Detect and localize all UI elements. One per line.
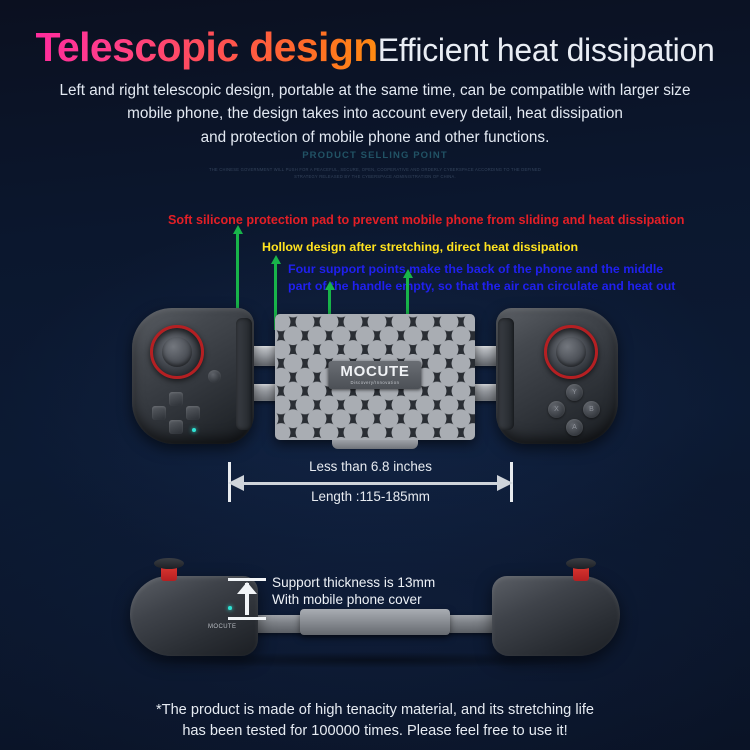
arrow-right-icon — [497, 475, 513, 491]
left-function-button[interactable] — [208, 370, 221, 383]
watermark-paragraph: THE CHINESE GOVERNMENT WILL PUSH FOR A P… — [0, 166, 750, 180]
button-b[interactable]: B — [583, 401, 600, 418]
callout-support-points-line-2: part of the handle empty, so that the ai… — [288, 278, 675, 295]
right-analog-stick[interactable] — [544, 325, 598, 379]
thickness-line-1: Support thickness is 13mm — [272, 574, 435, 591]
left-grip — [132, 308, 254, 444]
dpad-up-icon[interactable] — [169, 392, 183, 406]
bottom-brand-mark: MOCUTE — [208, 624, 236, 630]
callout-hollow-design: Hollow design after stretching, direct h… — [262, 240, 578, 254]
product-bottom-view: MOCUTE — [130, 552, 620, 672]
status-led-indicator — [192, 428, 196, 432]
face-button-cluster[interactable]: Y X B A — [548, 384, 600, 436]
stick-cap-right — [566, 558, 596, 569]
width-label-mm: Length :115-185mm — [311, 489, 430, 504]
button-a[interactable]: A — [566, 419, 583, 436]
intro-line-1: Left and right telescopic design, portab… — [0, 79, 750, 102]
left-analog-stick[interactable] — [150, 325, 204, 379]
brand-name: MOCUTE — [340, 364, 409, 379]
arrow-left-icon — [228, 475, 244, 491]
intro-line-2: mobile phone, the design takes into acco… — [0, 102, 750, 125]
intro-paragraph: Left and right telescopic design, portab… — [0, 79, 750, 149]
dpad-left-icon[interactable] — [152, 406, 166, 420]
bottom-left-analog-stick[interactable] — [154, 558, 184, 584]
button-y[interactable]: Y — [566, 384, 583, 401]
width-label-inches: Less than 6.8 inches — [309, 459, 432, 474]
brand-tagline: Discovery/Innovation — [340, 380, 409, 385]
left-shoulder-button[interactable] — [236, 318, 252, 430]
dpad-down-icon[interactable] — [169, 420, 183, 434]
dpad-right-icon[interactable] — [186, 406, 200, 420]
callout-support-points: Four support points make the back of the… — [288, 261, 675, 295]
brand-plate: MOCUTE Discovery/Innovation — [328, 361, 421, 389]
thickness-bar-bottom — [228, 617, 266, 620]
thickness-bar-top — [228, 578, 266, 581]
honeycomb-phone-holder: MOCUTE Discovery/Innovation — [275, 314, 475, 440]
callout-silicone-pad: Soft silicone protection pad to prevent … — [168, 213, 684, 227]
footer-line-2: has been tested for 100000 times. Please… — [0, 721, 750, 742]
thickness-line-2: With mobile phone cover — [272, 591, 435, 608]
footer-line-1: *The product is made of high tenacity ma… — [0, 700, 750, 721]
thickness-caption: Support thickness is 13mm With mobile ph… — [272, 574, 435, 609]
product-infographic-page: Telescopic designEfficient heat dissipat… — [0, 0, 750, 750]
right-shoulder-button[interactable] — [498, 318, 514, 430]
footer-note: *The product is made of high tenacity ma… — [0, 700, 750, 742]
stick-cap-left — [154, 558, 184, 569]
watermark-line-2: STRATEGY RELEASED BY THE CYBERSPACE ADMI… — [185, 173, 565, 180]
page-title: Telescopic designEfficient heat dissipat… — [0, 0, 750, 68]
watermark-title: PRODUCT SELLING POINT — [0, 150, 750, 161]
header: Telescopic designEfficient heat dissipat… — [0, 0, 750, 180]
ruler-line — [238, 482, 503, 485]
title-subhead: Efficient heat dissipation — [378, 32, 715, 68]
title-highlight: Telescopic design — [36, 24, 378, 70]
support-plate — [300, 609, 450, 635]
right-grip: Y X B A — [496, 308, 618, 444]
bottom-right-analog-stick[interactable] — [566, 558, 596, 584]
watermark-line-1: THE CHINESE GOVERNMENT WILL PUSH FOR A P… — [185, 166, 565, 173]
width-dimension-ruler: Less than 6.8 inches Length :115-185mm — [228, 462, 513, 512]
intro-line-3: and protection of mobile phone and other… — [0, 126, 750, 149]
bottom-right-grip — [492, 576, 620, 656]
callout-support-points-line-1: Four support points make the back of the… — [288, 261, 675, 278]
holder-foot — [332, 440, 418, 449]
thickness-arrow-up-icon — [237, 582, 257, 594]
thickness-marker — [228, 578, 266, 620]
product-top-view: Y X B A MOCUTE Discovery/Innovation — [120, 300, 630, 465]
button-x[interactable]: X — [548, 401, 565, 418]
